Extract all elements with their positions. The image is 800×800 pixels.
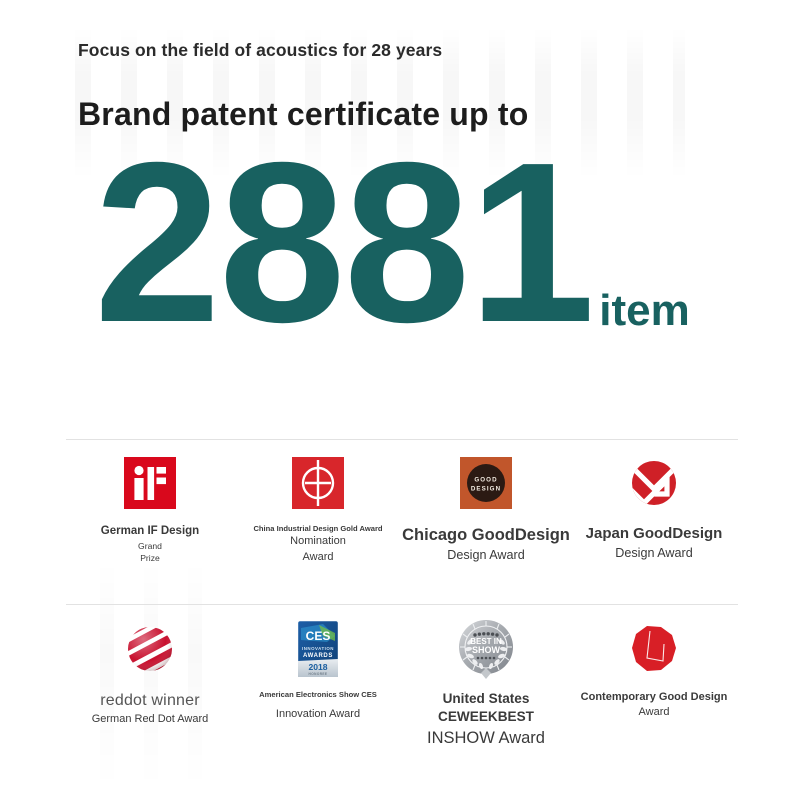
award-title: German IF Design bbox=[101, 524, 199, 540]
award-item-red-dot-winner[interactable]: reddot winner German Red Dot Award bbox=[66, 618, 234, 751]
red-dot-winner-logo bbox=[122, 618, 178, 680]
svg-text:INNOVATION: INNOVATION bbox=[302, 646, 334, 651]
award-item-ce-week-best-in-show[interactable]: BEST IN SHOW United States CEWEEKBEST IN… bbox=[402, 618, 570, 751]
svg-text:DESIGN: DESIGN bbox=[471, 486, 501, 493]
award-subtitle-2: Award bbox=[303, 550, 334, 566]
award-row-2: reddot winner German Red Dot Award bbox=[66, 618, 738, 751]
chicago-good-design-logo: GOOD DESIGN bbox=[460, 452, 512, 514]
contemporary-good-design-award-logo bbox=[627, 618, 681, 680]
award-subtitle-2: Prize bbox=[140, 552, 160, 564]
award-title: United States CEWEEKBEST bbox=[402, 690, 570, 727]
award-subtitle-1: Nomination bbox=[290, 534, 346, 550]
award-title: Japan GoodDesign bbox=[586, 524, 723, 544]
ces-innovation-awards-2018-badge: CES INNOVATION AWARDS 2018 HONOREE bbox=[297, 618, 339, 680]
svg-text:2018: 2018 bbox=[308, 662, 327, 672]
divider-middle bbox=[66, 604, 738, 605]
award-item-chicago-good-design[interactable]: GOOD DESIGN Chicago GoodDesign Design Aw… bbox=[402, 452, 570, 566]
svg-text:CES: CES bbox=[306, 629, 331, 643]
award-item-contemporary-good-design[interactable]: Contemporary Good Design Award bbox=[570, 618, 738, 751]
china-industrial-design-gold-award-logo bbox=[292, 452, 344, 514]
award-item-ces-innovation[interactable]: CES INNOVATION AWARDS 2018 HONOREE Ameri… bbox=[234, 618, 402, 751]
award-item-china-industrial-design[interactable]: China Industrial Design Gold Award Nomin… bbox=[234, 452, 402, 566]
award-row-1: German IF Design Grand Prize China Indus… bbox=[66, 452, 738, 566]
award-subtitle-1: Design Award bbox=[615, 544, 692, 562]
japan-good-design-g-mark-logo bbox=[627, 452, 681, 514]
patent-awards-page: Focus on the field of acoustics for 28 y… bbox=[0, 0, 800, 800]
svg-text:GOOD: GOOD bbox=[474, 477, 497, 484]
award-title: reddot winner bbox=[100, 690, 200, 712]
svg-text:HONOREE: HONOREE bbox=[309, 672, 328, 676]
count-block: 2881 item bbox=[78, 139, 738, 349]
award-subtitle-1: Design Award bbox=[447, 546, 524, 564]
award-title: American Electronics Show CES bbox=[259, 690, 377, 700]
award-item-if-design[interactable]: German IF Design Grand Prize bbox=[66, 452, 234, 566]
patent-count-value: 2881 bbox=[94, 139, 593, 349]
patent-count-unit: item bbox=[593, 289, 689, 349]
hero-section: Focus on the field of acoustics for 28 y… bbox=[78, 40, 738, 349]
award-subtitle-1: German Red Dot Award bbox=[92, 712, 209, 728]
svg-text:SHOW: SHOW bbox=[472, 645, 501, 655]
ce-week-best-in-show-medallion: BEST IN SHOW bbox=[457, 618, 515, 680]
if-design-award-logo bbox=[124, 452, 176, 514]
award-title: Chicago GoodDesign bbox=[402, 524, 570, 546]
award-title: China Industrial Design Gold Award bbox=[253, 524, 382, 534]
eyebrow-text: Focus on the field of acoustics for 28 y… bbox=[78, 40, 738, 61]
svg-text:AWARDS: AWARDS bbox=[303, 653, 333, 659]
award-subtitle-1: Innovation Award bbox=[276, 707, 360, 723]
award-item-japan-good-design[interactable]: Japan GoodDesign Design Award bbox=[570, 452, 738, 566]
award-subtitle-1: INSHOW Award bbox=[427, 727, 545, 751]
award-subtitle-1: Grand bbox=[138, 540, 162, 552]
award-subtitle-1: Award bbox=[639, 705, 670, 721]
divider-top bbox=[66, 439, 738, 440]
award-title: Contemporary Good Design bbox=[581, 690, 728, 705]
